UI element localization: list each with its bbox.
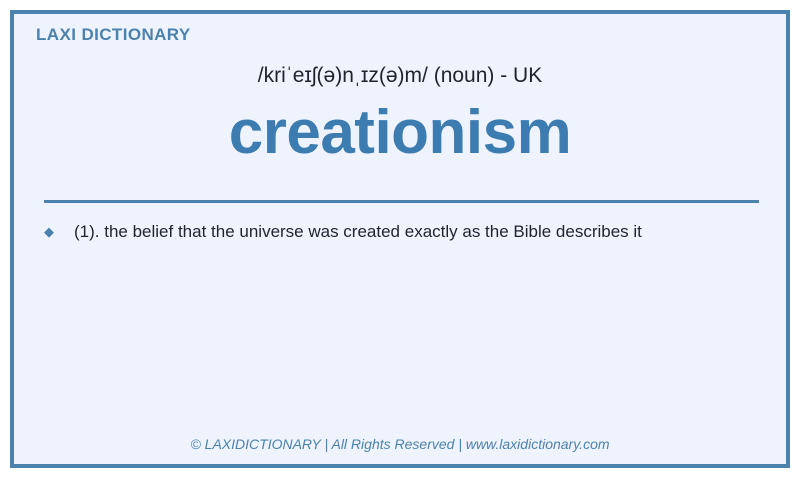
- definition-list: ◆ (1). the belief that the universe was …: [38, 217, 726, 247]
- dictionary-entry-card: LAXI DICTIONARY /kriˈeɪʃ(ə)nˌɪz(ə)m/ (no…: [10, 10, 790, 468]
- section-divider: [44, 200, 759, 203]
- site-brand-title: LAXI DICTIONARY: [36, 25, 191, 45]
- diamond-bullet-icon: ◆: [44, 217, 54, 247]
- definition-text: (1). the belief that the universe was cr…: [74, 222, 642, 241]
- definition-item: ◆ (1). the belief that the universe was …: [38, 217, 726, 247]
- copyright-footer: © LAXIDICTIONARY | All Rights Reserved |…: [14, 436, 786, 452]
- headword: creationism: [14, 97, 786, 168]
- phonetic-transcription: /kriˈeɪʃ(ə)nˌɪz(ə)m/ (noun) - UK: [14, 64, 786, 88]
